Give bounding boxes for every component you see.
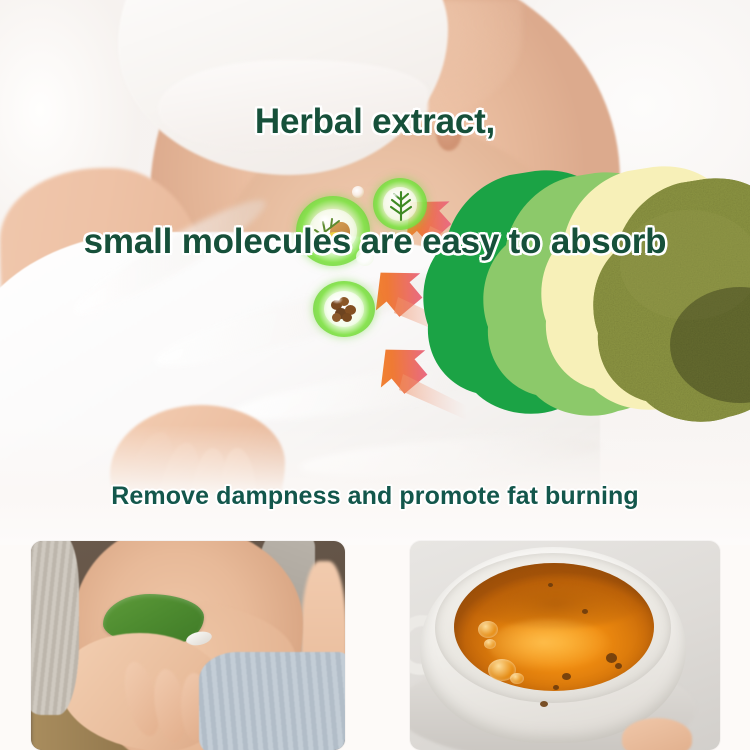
tea-herb-speck-3 xyxy=(562,673,571,680)
demo-pants xyxy=(199,652,345,750)
tea-herb-speck-7 xyxy=(548,583,553,587)
application-demo-photo xyxy=(31,541,345,750)
tea-herb-speck-4 xyxy=(553,685,559,690)
product-ad-banner: Herbal extract, small molecules are easy… xyxy=(0,0,750,750)
demo-shirt-left xyxy=(31,541,79,715)
tea-oil-bubble-1 xyxy=(478,621,498,638)
herbal-tea-photo xyxy=(410,541,720,750)
tea-herb-speck-1 xyxy=(606,653,617,663)
page-title: Herbal extract, small molecules are easy… xyxy=(0,22,750,342)
tea-oil-bubble-2 xyxy=(484,639,496,649)
tea-oil-bubble-4 xyxy=(510,673,524,684)
tea-herb-speck-5 xyxy=(540,701,548,707)
tea-finger xyxy=(622,718,692,750)
headline-line-1: Herbal extract, xyxy=(0,102,750,142)
headline-line-2: small molecules are easy to absorb xyxy=(0,222,750,262)
tea-herb-speck-6 xyxy=(582,609,588,614)
subtitle-text: Remove dampness and promote fat burning xyxy=(0,482,750,511)
tea-herb-speck-2 xyxy=(615,663,622,669)
